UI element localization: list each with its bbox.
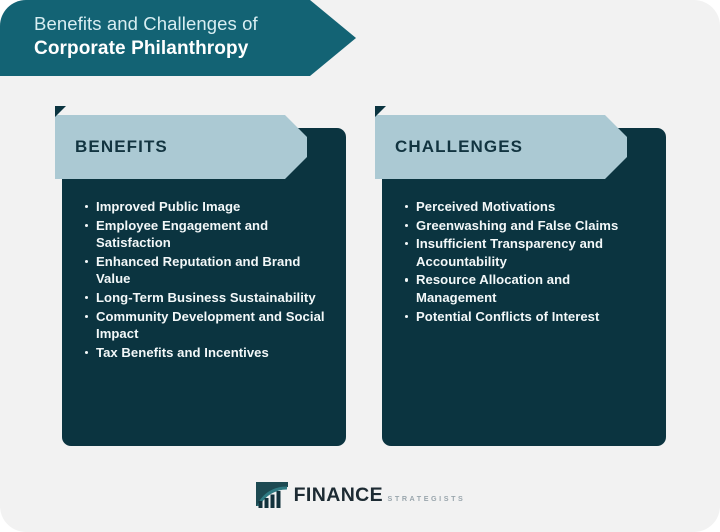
list-item: Long-Term Business Sustainability (96, 289, 330, 307)
list-item: Community Development and Social Impact (96, 308, 330, 343)
list-item: Enhanced Reputation and Brand Value (96, 253, 330, 288)
brand-tagline: STRATEGISTS (388, 494, 466, 503)
header-banner: Benefits and Challenges of Corporate Phi… (0, 0, 356, 76)
finance-chart-logo-icon (255, 480, 289, 510)
list-item: Greenwashing and False Claims (416, 217, 650, 235)
list-item: Resource Allocation and Management (416, 271, 650, 306)
challenges-column: Perceived Motivations Greenwashing and F… (375, 106, 666, 446)
benefits-column: Improved Public Image Employee Engagemen… (55, 106, 346, 446)
benefits-title: BENEFITS (75, 137, 168, 157)
list-item: Tax Benefits and Incentives (96, 344, 330, 362)
benefits-list: Improved Public Image Employee Engagemen… (80, 198, 330, 361)
benefits-ribbon: BENEFITS (55, 115, 307, 179)
challenges-title: CHALLENGES (395, 137, 523, 157)
brand-name: FINANCE (294, 484, 383, 506)
footer: FINANCE STRATEGISTS (0, 480, 720, 510)
header-title-line2: Corporate Philanthropy (34, 36, 356, 62)
list-item: Perceived Motivations (416, 198, 650, 216)
challenges-list: Perceived Motivations Greenwashing and F… (400, 198, 650, 325)
list-item: Insufficient Transparency and Accountabi… (416, 235, 650, 270)
infographic-page: Benefits and Challenges of Corporate Phi… (0, 0, 720, 532)
comparison-columns: Improved Public Image Employee Engagemen… (0, 106, 720, 451)
list-item: Improved Public Image (96, 198, 330, 216)
challenges-ribbon: CHALLENGES (375, 115, 627, 179)
brand-wordmark: FINANCE STRATEGISTS (294, 485, 466, 505)
header-title-line1: Benefits and Challenges of (34, 11, 356, 36)
list-item: Potential Conflicts of Interest (416, 308, 650, 326)
brand-logo: FINANCE STRATEGISTS (255, 480, 466, 510)
list-item: Employee Engagement and Satisfaction (96, 217, 330, 252)
